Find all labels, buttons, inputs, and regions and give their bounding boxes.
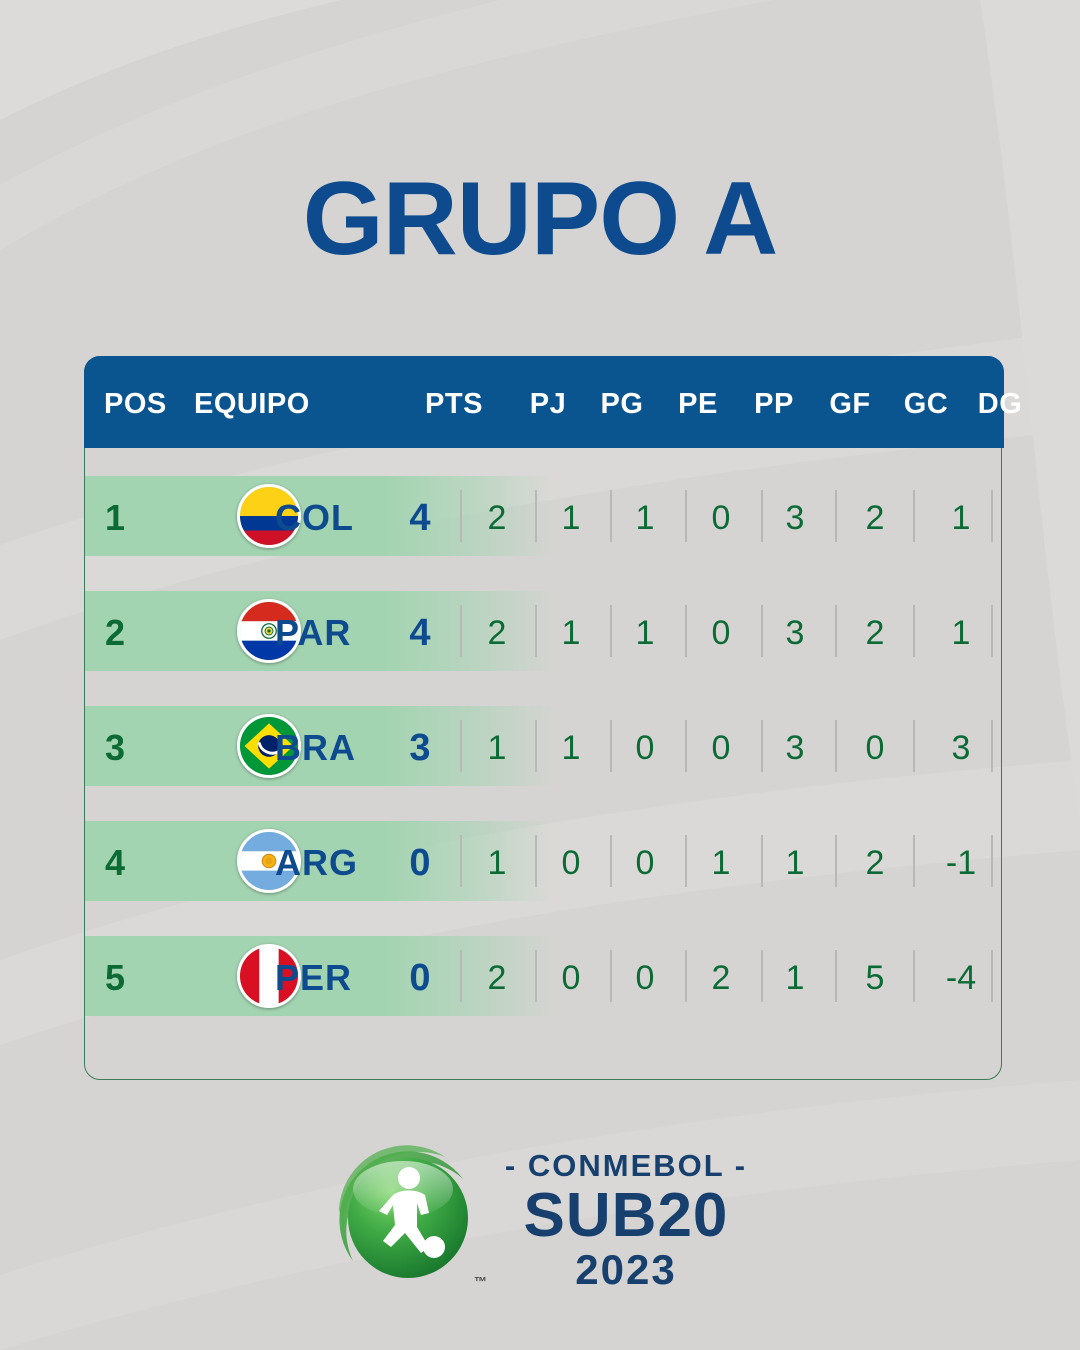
- cell-gf: 1: [750, 821, 840, 901]
- table-header-row: POSEQUIPOPTSPJPGPEPPGFGCDG: [84, 356, 1004, 448]
- cell-dg: -4: [916, 936, 1003, 1016]
- cell-pos: 3: [85, 706, 160, 786]
- cell-gf: 3: [750, 591, 840, 671]
- table-body: 1COL421103212PAR421103213BRA311003034ARG…: [85, 448, 1003, 1080]
- cell-gc: 5: [830, 936, 920, 1016]
- logo-conmebol-text: - CONMEBOL -: [505, 1150, 747, 1181]
- cell-gc: 2: [830, 591, 920, 671]
- logo-year-text: 2023: [505, 1249, 747, 1291]
- trademark-mark: ™: [474, 1274, 487, 1289]
- table-row[interactable]: 2PAR42110321: [85, 591, 1003, 671]
- conmebol-football-player-icon: ™: [333, 1143, 483, 1293]
- cell-gf: 3: [750, 476, 840, 556]
- cell-pos: 1: [85, 476, 160, 556]
- table-row[interactable]: 5PER0200215-4: [85, 936, 1003, 1016]
- cell-pos: 5: [85, 936, 160, 1016]
- cell-pos: 2: [85, 591, 160, 671]
- cell-dg: 1: [916, 476, 1003, 556]
- cell-gc: 2: [830, 476, 920, 556]
- logo-sub20-text: SUB20: [505, 1185, 747, 1247]
- column-header-pos: POS: [104, 356, 184, 448]
- cell-dg: 3: [916, 706, 1003, 786]
- cell-gf: 3: [750, 706, 840, 786]
- page-title: GRUPO A: [0, 160, 1080, 279]
- cell-gc: 2: [830, 821, 920, 901]
- cell-gc: 0: [830, 706, 920, 786]
- column-header-dg: DG: [955, 356, 1045, 448]
- table-row[interactable]: 1COL42110321: [85, 476, 1003, 556]
- column-header-team: EQUIPO: [194, 356, 374, 448]
- table-row[interactable]: 4ARG0100112-1: [85, 821, 1003, 901]
- cell-dg: 1: [916, 591, 1003, 671]
- cell-gf: 1: [750, 936, 840, 1016]
- tournament-logo: ™ - CONMEBOL - SUB20 2023: [0, 1128, 1080, 1308]
- column-header-pts: PTS: [409, 356, 499, 448]
- cell-pos: 4: [85, 821, 160, 901]
- table-row[interactable]: 3BRA31100303: [85, 706, 1003, 786]
- cell-dg: -1: [916, 821, 1003, 901]
- logo-wordmark: - CONMEBOL - SUB20 2023: [505, 1146, 747, 1291]
- standings-table-card: POSEQUIPOPTSPJPGPEPPGFGCDG 1COL421103212…: [84, 356, 1002, 1080]
